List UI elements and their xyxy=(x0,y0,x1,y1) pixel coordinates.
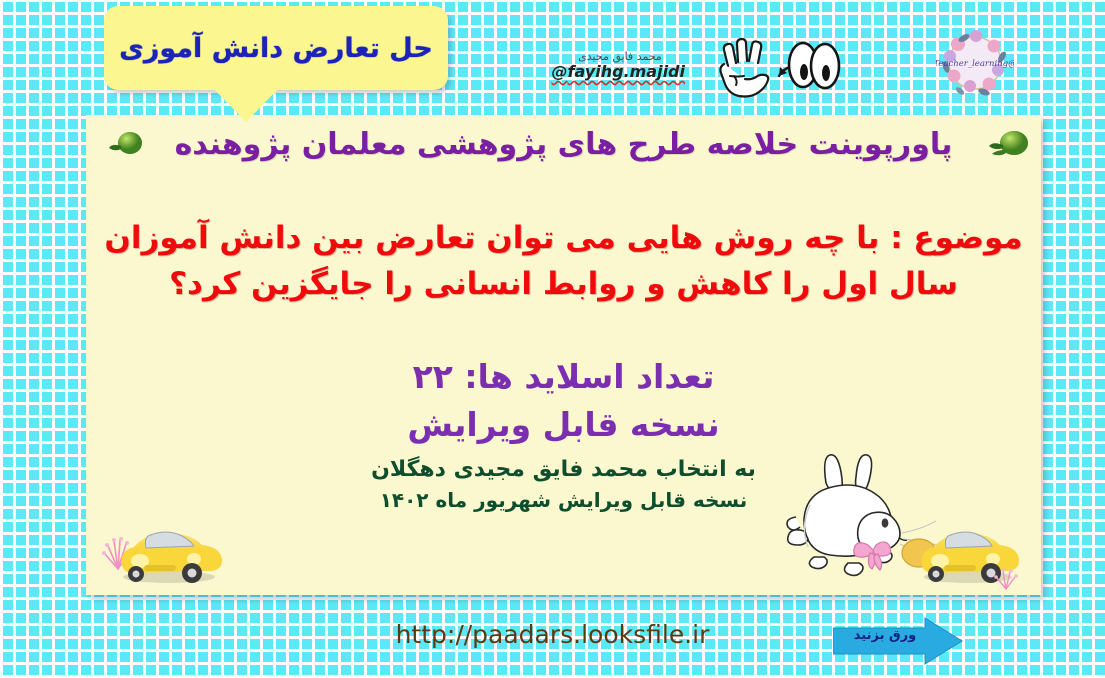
speech-bubble: حل تعارض دانش آموزی xyxy=(104,6,448,90)
author-note: محمد فایق مجیدی fayihg.majidi@ xyxy=(555,50,685,81)
floral-logo-handle: @Teacher_learning xyxy=(936,59,1014,69)
next-arrow-label: ورق بزنید xyxy=(833,628,937,643)
pink-sparkle-icon-right xyxy=(993,565,1019,591)
subject-line-2: سال اول را کاهش و روابط انسانی را جایگزی… xyxy=(104,261,1023,307)
floral-logo: @Teacher_learning xyxy=(936,24,1014,102)
speech-bubble-tail xyxy=(213,88,279,122)
content-panel: پاورپوینت خلاصه طرح های پژوهشی معلمان پژ… xyxy=(86,115,1041,595)
slide-count-line: تعداد اسلاید ها: ۲۲ xyxy=(86,353,1041,401)
slides-info-block: تعداد اسلاید ها: ۲۲ نسخه قابل ویرایش xyxy=(86,353,1041,449)
cartoon-eyes-icon xyxy=(785,40,843,92)
author-email: fayihg.majidi@ xyxy=(555,63,685,81)
subject-line-1: موضوع : با چه روش هایی می توان تعارض بین… xyxy=(104,215,1023,261)
page-title: پاورپوینت خلاصه طرح های پژوهشی معلمان پژ… xyxy=(86,127,1041,162)
subject-block: موضوع : با چه روش هایی می توان تعارض بین… xyxy=(104,215,1023,307)
yellow-sports-car-icon-left xyxy=(114,517,224,587)
editable-version-line: نسخه قابل ویرایش xyxy=(86,401,1041,449)
speech-bubble-text: حل تعارض دانش آموزی xyxy=(119,33,433,64)
